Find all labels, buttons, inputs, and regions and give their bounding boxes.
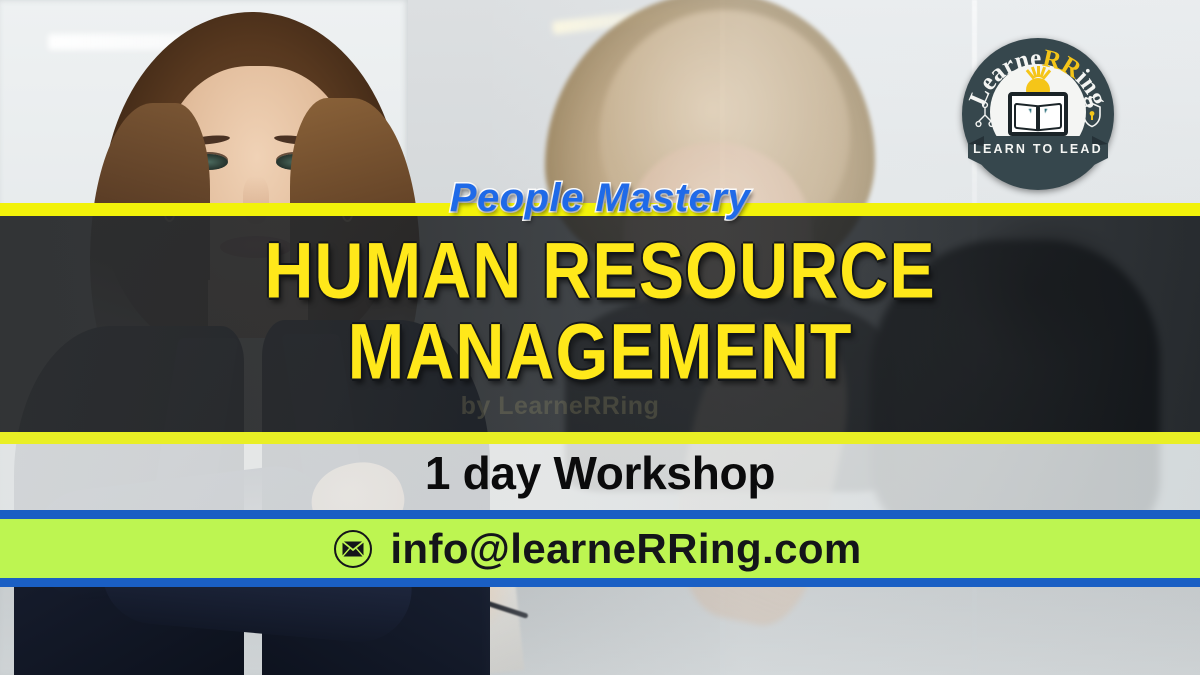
stripe-blue-lower [0,578,1200,587]
stripe-yellow-bottom [0,432,1200,444]
title-line-1: HUMAN RESOURCE [0,226,1200,316]
email-address[interactable]: info@learneRRing.com [390,525,861,573]
share-node-icon [975,102,995,128]
brand-logo[interactable]: LearneRRing [962,38,1114,190]
email-row[interactable]: info@learneRRing.com [0,519,1200,578]
shield-lock-icon [1082,102,1102,128]
subtitle-text: 1 day Workshop [0,446,1200,500]
stripe-blue-upper [0,510,1200,519]
promo-banner: People Mastery HUMAN RESOURCE MANAGEMENT… [0,0,1200,675]
title-line-2: MANAGEMENT [0,307,1200,397]
watermark-text: by LearneRRing [0,392,1200,421]
envelope-icon [334,530,372,568]
logo-tagline: LEARN TO LEAD [962,142,1114,156]
